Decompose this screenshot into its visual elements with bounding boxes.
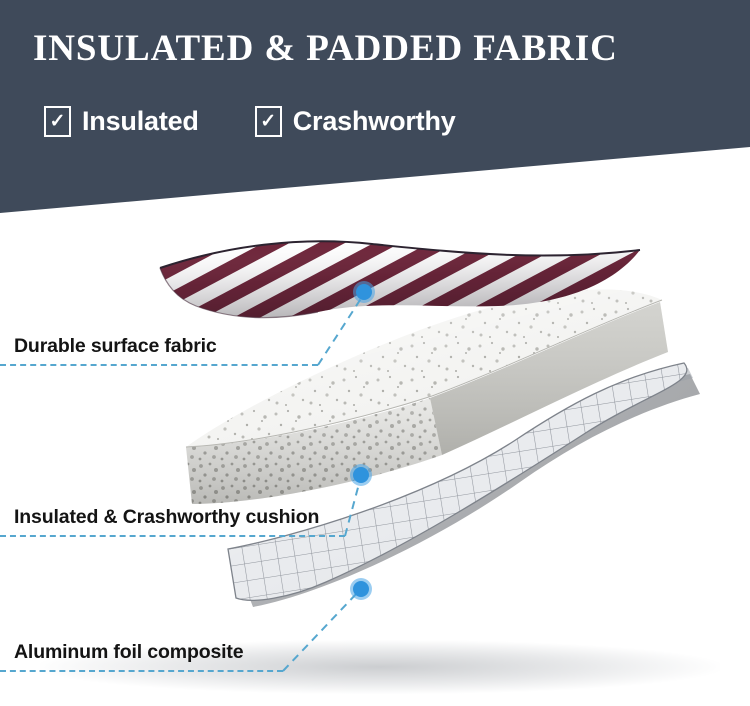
feature-label: Insulated <box>82 106 199 137</box>
product-feature-poster: Durable surface fabric Insulated & Crash… <box>0 0 750 706</box>
feature-badge-crashworthy: ✓ Crashworthy <box>255 106 456 137</box>
feature-badge-insulated: ✓ Insulated <box>44 106 199 137</box>
callout-label: Insulated & Crashworthy cushion <box>0 508 345 528</box>
checkbox-checked-icon: ✓ <box>44 106 71 137</box>
checkbox-checked-icon: ✓ <box>255 106 282 137</box>
check-glyph: ✓ <box>257 108 280 135</box>
feature-badge-row: ✓ Insulated ✓ Crashworthy <box>44 106 456 137</box>
callout-underline <box>0 670 283 672</box>
callout-underline <box>0 535 345 537</box>
callout-durable-surface-fabric: Durable surface fabric <box>0 337 318 366</box>
check-glyph: ✓ <box>46 108 69 135</box>
callout-aluminum-foil-composite: Aluminum foil composite <box>0 643 283 672</box>
callout-label: Durable surface fabric <box>0 337 318 357</box>
page-title: INSULATED & PADDED FABRIC <box>33 27 618 70</box>
feature-label: Crashworthy <box>293 106 456 137</box>
callout-underline <box>0 364 318 366</box>
callout-insulated-crashworthy-cushion: Insulated & Crashworthy cushion <box>0 508 345 537</box>
callout-label: Aluminum foil composite <box>0 643 283 663</box>
